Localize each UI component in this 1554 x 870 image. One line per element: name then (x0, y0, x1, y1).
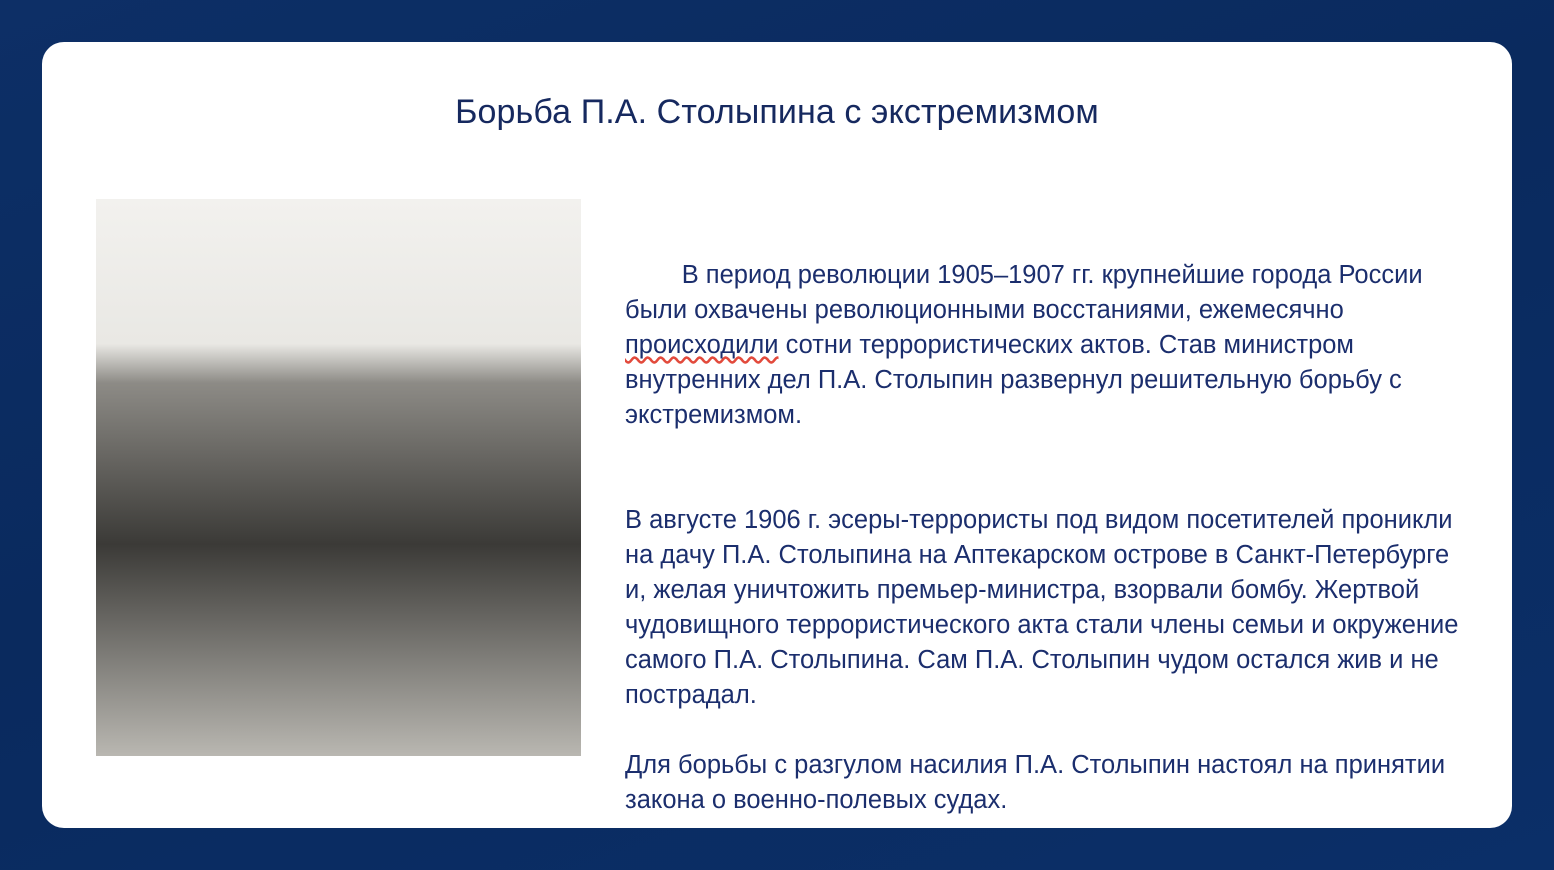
historical-photo (96, 199, 581, 756)
photo-placeholder-background (96, 199, 581, 756)
paragraph-3: Для борьбы с разгулом насилия П.А. Столы… (625, 748, 1463, 818)
page-title: Борьба П.А. Столыпина с экстремизмом (42, 93, 1512, 132)
slide-card: Борьба П.А. Столыпина с экстремизмом В п… (42, 42, 1512, 828)
body-text-column: В период революции 1905–1907 гг. крупней… (625, 223, 1463, 818)
slide-root: Борьба П.А. Столыпина с экстремизмом В п… (0, 0, 1554, 870)
spellcheck-misspelled-word[interactable]: происходили (625, 331, 779, 359)
paragraph-1-part-a: В период революции 1905–1907 гг. крупней… (625, 261, 1430, 324)
paragraph-2: В августе 1906 г. эсеры-террористы под в… (625, 503, 1463, 713)
paragraph-1: В период революции 1905–1907 гг. крупней… (625, 223, 1463, 468)
